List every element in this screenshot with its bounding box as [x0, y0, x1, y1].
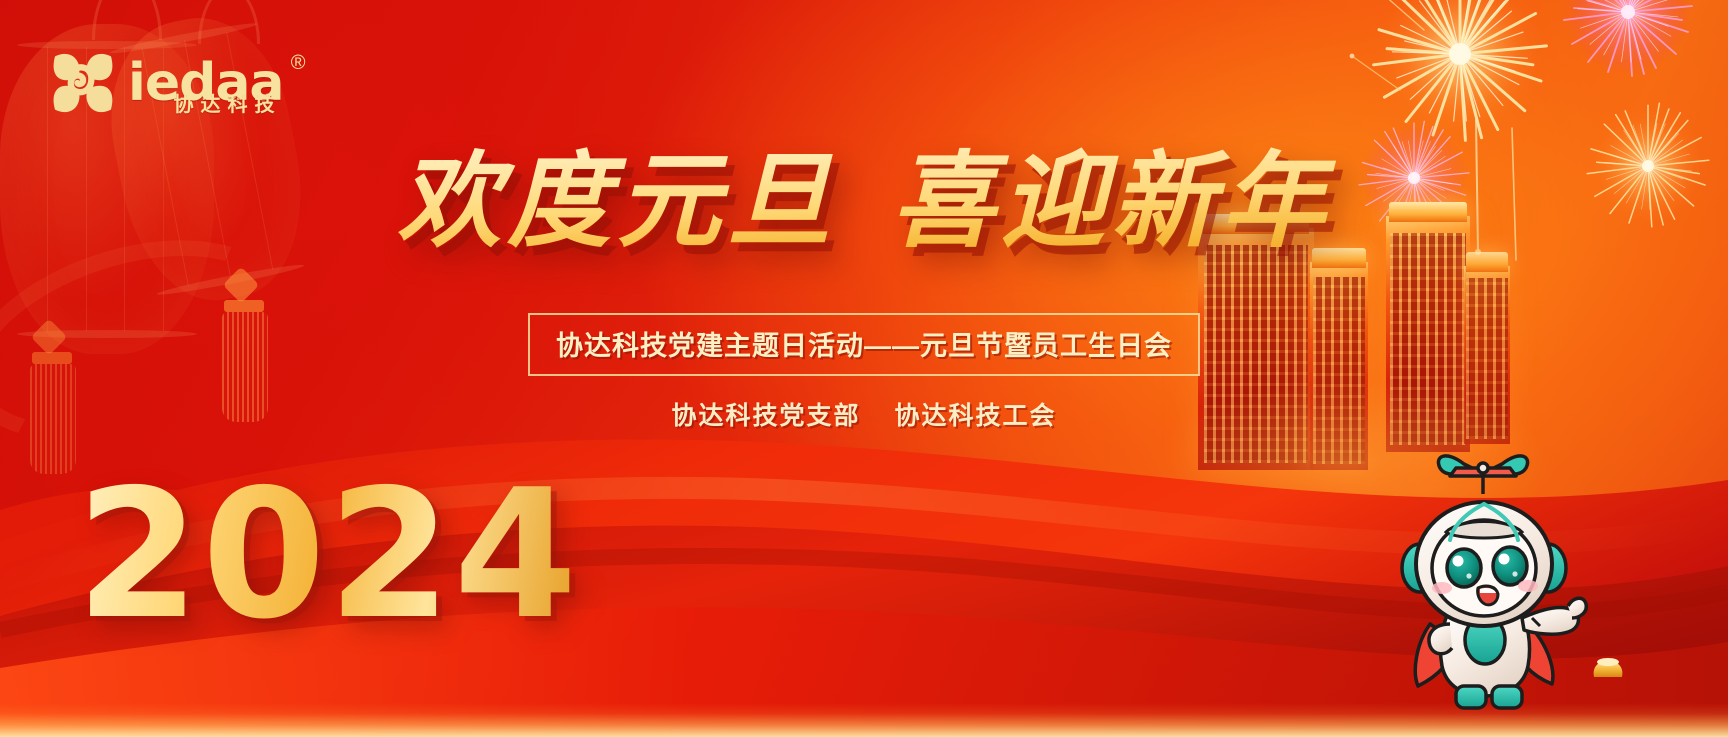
organizer-union: 协达科技工会 [895, 402, 1057, 430]
cheek-left [1432, 582, 1452, 594]
building-tower [1310, 262, 1368, 470]
organizer-line: 协达科技党支部协达科技工会 [0, 396, 1728, 432]
year-2024: 2024 [76, 466, 579, 644]
building-windows [1313, 277, 1365, 464]
subtitle-frame: 协达科技党建主题日活动——元旦节暨员工生日会 [528, 313, 1200, 376]
headline-part-2: 喜迎新年 [891, 140, 1331, 262]
organizer-party-branch: 协达科技党支部 [671, 402, 860, 430]
registered-trademark-icon: ® [291, 53, 306, 73]
xiedaa-pinwheel-mark-icon [48, 48, 118, 118]
robot-mascot [1368, 428, 1618, 728]
firework-burst-pink [1564, 0, 1692, 76]
subtitle-text: 协达科技党建主题日活动——元旦节暨员工生日会 [556, 324, 1172, 363]
company-logo[interactable]: iedaa 协达科技 ® [48, 48, 284, 118]
gold-ingot-icon [1588, 655, 1628, 679]
lantern-tassel-knot [31, 319, 68, 356]
lantern-tassel-knot [223, 267, 260, 304]
leg-right [1492, 686, 1522, 708]
page-title: 欢度元旦喜迎新年 [0, 116, 1728, 267]
lantern-hook-icon [92, 0, 162, 40]
lantern-hook-icon [198, 0, 260, 44]
cheek-right [1518, 580, 1538, 592]
logo-wordmark: iedaa 协达科技 ® [128, 57, 284, 109]
headline-part-1: 欢度元旦 [397, 140, 837, 262]
eye-right [1493, 547, 1527, 585]
lantern-tassel-band [224, 300, 264, 312]
lantern-tassel-band [32, 352, 72, 364]
propeller-icon [1438, 456, 1527, 494]
new-year-banner: iedaa 协达科技 ® 欢度元旦喜迎新年 协达科技党建主题日活动——元旦节暨员… [0, 0, 1728, 737]
eye-left [1447, 549, 1481, 587]
leg-left [1456, 686, 1486, 708]
arm-left [1429, 624, 1452, 654]
logo-chinese-text: 协达科技 [174, 95, 282, 115]
